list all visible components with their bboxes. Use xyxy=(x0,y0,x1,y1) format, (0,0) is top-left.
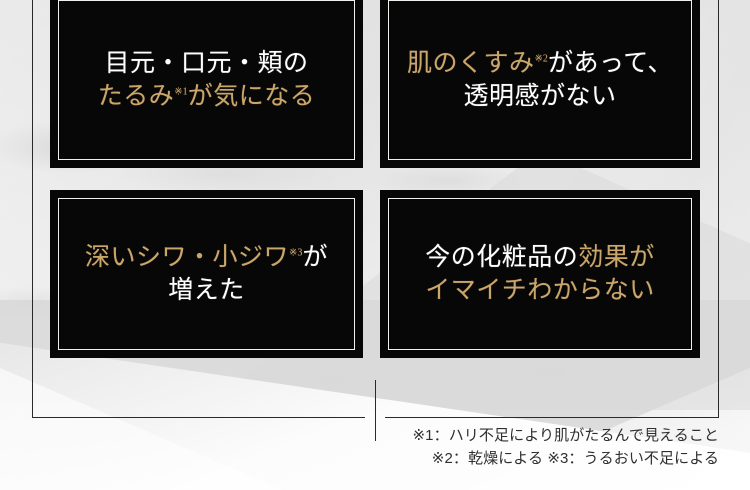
frame-line-center-divider xyxy=(375,380,376,441)
footnote-line-1: ※1：ハリ不足により肌がたるんで見えること xyxy=(412,424,719,447)
concern-text-segment: 効果が xyxy=(578,244,655,271)
footnote-block: ※1：ハリ不足により肌がたるんで見えること ※2：乾燥による ※3：うるおい不足… xyxy=(412,424,719,471)
footnote-line-2: ※2：乾燥による ※3：うるおい不足による xyxy=(412,447,719,470)
concern-card-line: 肌のくすみ※2があって、 xyxy=(407,47,673,80)
concern-card-line: 目元・口元・頬の xyxy=(104,47,308,80)
footnote-marker: ※3 xyxy=(289,248,302,259)
concern-text-segment: 目元・口元・頬の xyxy=(104,50,308,77)
concern-card-line: 透明感がない xyxy=(463,80,616,113)
concern-card-grid: 目元・口元・頬の たるみ※1が気になる 肌のくすみ※2があって、 透明感がない … xyxy=(50,0,700,360)
concern-text-segment: が xyxy=(302,244,328,271)
frame-line-left xyxy=(32,0,33,418)
concern-text-segment: 深いシワ・小ジワ xyxy=(85,244,289,271)
concern-text-segment: 今の化粧品の xyxy=(425,244,578,271)
concern-text-segment: 透明感がない xyxy=(463,83,616,110)
frame-line-right xyxy=(718,0,719,418)
footnote-marker: ※1 xyxy=(174,87,187,98)
footnote-marker: ※2 xyxy=(535,54,548,65)
concern-card-dullness: 肌のくすみ※2があって、 透明感がない xyxy=(380,0,700,168)
concern-text-segment: があって、 xyxy=(548,50,673,77)
concern-card-line: たるみ※1が気になる xyxy=(98,80,315,113)
concern-card-sagging: 目元・口元・頬の たるみ※1が気になる xyxy=(50,0,363,168)
frame-line-bottom-right xyxy=(385,417,719,418)
concern-card-inner: 肌のくすみ※2があって、 透明感がない xyxy=(388,0,692,160)
concern-card-inner: 目元・口元・頬の たるみ※1が気になる xyxy=(58,0,355,160)
concern-text-segment: 増えた xyxy=(168,277,245,304)
concern-text-segment: が気になる xyxy=(188,83,316,110)
concern-card-inner: 今の化粧品の効果が イマイチわからない xyxy=(388,198,692,350)
concern-card-effect: 今の化粧品の効果が イマイチわからない xyxy=(380,190,700,358)
concern-card-inner: 深いシワ・小ジワ※3が 増えた xyxy=(58,198,355,350)
page-root: 目元・口元・頬の たるみ※1が気になる 肌のくすみ※2があって、 透明感がない … xyxy=(0,0,750,490)
concern-card-wrinkles: 深いシワ・小ジワ※3が 増えた xyxy=(50,190,363,358)
concern-card-line: 今の化粧品の効果が xyxy=(425,241,655,274)
concern-text-segment: たるみ xyxy=(98,83,175,110)
concern-card-line: 深いシワ・小ジワ※3が xyxy=(85,241,328,274)
concern-text-segment: イマイチわからない xyxy=(425,277,655,304)
frame-line-bottom-left xyxy=(32,417,365,418)
concern-card-line: 増えた xyxy=(168,274,245,307)
concern-card-line: イマイチわからない xyxy=(425,274,655,307)
concern-text-segment: 肌のくすみ xyxy=(407,50,535,77)
